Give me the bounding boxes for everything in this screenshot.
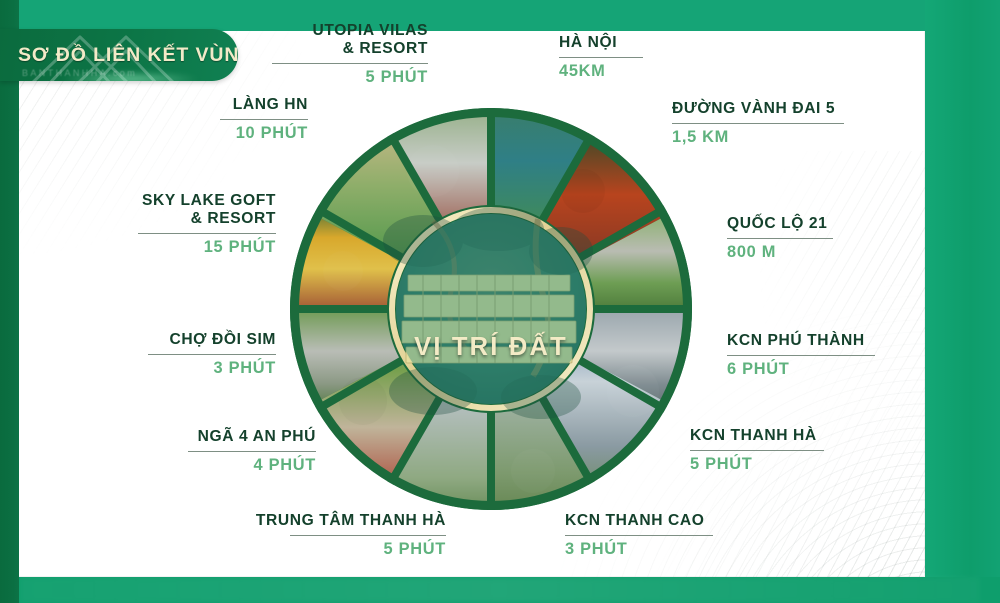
label-value: 3 PHÚT [565,540,785,559]
label-title: KCN PHÚ THÀNH [727,332,937,350]
label-divider [690,450,824,451]
frame-bottom-blur [20,577,980,603]
label-title: TRUNG TÂM THANH HÀ [192,512,446,530]
region-link-wheel: VỊ TRÍ ĐẤT [283,101,699,517]
label-value: 4 PHÚT [126,456,316,475]
page-title: SƠ ĐỒ LIÊN KẾT VÙNG [18,44,238,67]
label-title: KCN THANH HÀ [690,427,900,445]
label-divider [272,63,428,64]
label-divider [727,355,875,356]
frame-top-band [0,0,1000,31]
label-divider [188,451,316,452]
title-banner: BANTHANHHA.com SƠ ĐỒ LIÊN KẾT VÙNG [0,29,238,81]
label-value: 5 PHÚT [690,455,900,474]
label-lang-hn: LÀNG HN 10 PHÚT [96,96,308,143]
label-sky-lake-goft-resort: SKY LAKE GOFT & RESORT 15 PHÚT [64,192,276,257]
label-cho-doi-sim: CHỢ ĐỒI SIM 3 PHÚT [90,331,276,378]
label-value: 800 M [727,243,917,262]
label-trung-tam-thanh-ha: TRUNG TÂM THANH HÀ 5 PHÚT [192,512,446,559]
banner-watermark-text: BANTHANHHA.com [22,68,137,78]
label-divider [565,535,713,536]
label-divider [559,57,643,58]
label-value: 1,5 KM [672,128,912,147]
label-kcn-thanh-cao: KCN THANH CAO 3 PHÚT [565,512,785,559]
label-divider [290,535,446,536]
label-title: LÀNG HN [96,96,308,114]
label-value: 5 PHÚT [192,540,446,559]
label-divider [727,238,833,239]
label-divider [138,233,276,234]
frame-bottom-band [0,577,1000,603]
label-duong-vanh-dai-5: ĐƯỜNG VÀNH ĐAI 5 1,5 KM [672,100,912,147]
label-value: 6 PHÚT [727,360,937,379]
infographic-root: BANTHANHHA.com SƠ ĐỒ LIÊN KẾT VÙNG [0,0,1000,603]
label-title: CHỢ ĐỒI SIM [90,331,276,349]
frame-right-band [925,0,1000,603]
label-divider [148,354,276,355]
label-kcn-thanh-ha: KCN THANH HÀ 5 PHÚT [690,427,900,474]
label-ha-noi: HÀ NỘI 45KM [559,34,749,81]
label-value: 3 PHÚT [90,359,276,378]
label-title: QUỐC LỘ 21 [727,215,917,233]
label-value: 15 PHÚT [64,238,276,257]
label-value: 45KM [559,62,749,81]
label-quoc-lo-21: QUỐC LỘ 21 800 M [727,215,917,262]
label-title: SKY LAKE GOFT & RESORT [64,192,276,228]
label-title: KCN THANH CAO [565,512,785,530]
wheel-svg [283,101,699,517]
label-nga-4-an-phu: NGÃ 4 AN PHÚ 4 PHÚT [126,428,316,475]
frame-left-stripe [0,0,19,603]
label-value: 10 PHÚT [96,124,308,143]
label-divider [672,123,844,124]
label-title: NGÃ 4 AN PHÚ [126,428,316,446]
label-divider [220,119,308,120]
label-kcn-phu-thanh: KCN PHÚ THÀNH 6 PHÚT [727,332,937,379]
label-title: HÀ NỘI [559,34,749,52]
hub-tint [396,214,586,404]
label-title: ĐƯỜNG VÀNH ĐAI 5 [672,100,912,118]
